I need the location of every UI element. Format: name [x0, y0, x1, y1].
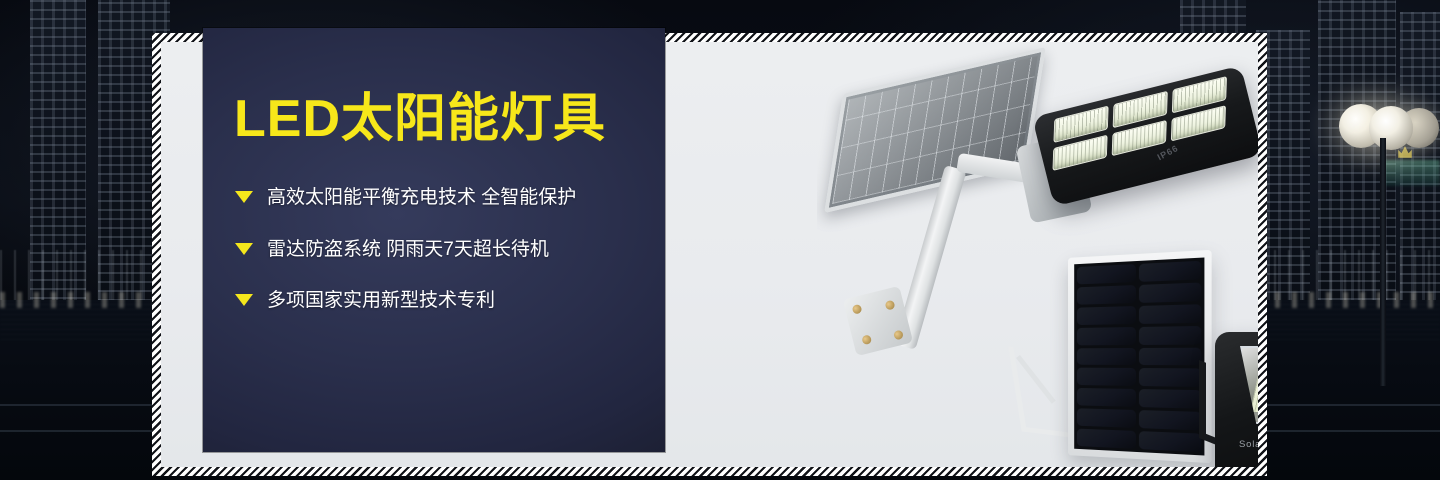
feature-item: 雷达防盗系统 阴雨天7天超长待机 [235, 237, 635, 263]
solar-panel-product [1062, 254, 1212, 459]
feature-text: 雷达防盗系统 阴雨天7天超长待机 [267, 237, 549, 263]
mount-bolt-icon [861, 334, 872, 345]
led-solar-lighting-banner: IP66 [0, 0, 1440, 480]
solar-cell [1138, 410, 1201, 430]
triangle-down-icon [235, 243, 253, 255]
street-light-solar-panel [824, 47, 1046, 213]
solar-cell [1138, 326, 1201, 345]
mount-bolt-icon [893, 330, 904, 341]
solar-flood-light-product: Solar light 100W IP67 [1215, 332, 1258, 467]
solar-cell [1138, 261, 1201, 282]
panel-cell-grid [1074, 257, 1204, 455]
panel-frame [1068, 250, 1212, 463]
mount-bolt-icon [852, 304, 863, 315]
solar-cell [1138, 347, 1201, 366]
flood-light-brand-label: Solar light [1239, 439, 1258, 450]
panel-cell-column [1077, 264, 1136, 449]
housing-ip-mark: IP66 [1156, 143, 1181, 162]
solar-cell [1077, 306, 1136, 325]
solar-cell [1138, 389, 1201, 409]
led-module-array [1052, 76, 1227, 171]
street-lamp-post [1327, 86, 1440, 386]
feature-item: 多项国家实用新型技术专利 [235, 288, 635, 314]
solar-cell [1077, 408, 1136, 428]
solar-cell [1138, 304, 1201, 324]
street-light-led-head: IP66 [1032, 65, 1258, 206]
solar-cell [1077, 327, 1136, 345]
flood-light-housing: Solar light 100W IP67 [1215, 332, 1258, 467]
solar-cell [1138, 431, 1201, 452]
solar-cell [1138, 368, 1201, 387]
feature-item: 高效太阳能平衡充电技术 全智能保护 [235, 185, 635, 211]
triangle-down-icon [235, 191, 253, 203]
solar-cell [1077, 388, 1136, 407]
flood-light-lens [1240, 346, 1258, 424]
panel-cell-column [1138, 261, 1201, 452]
mount-bolt-icon [885, 300, 896, 311]
headline-panel: LED太阳能灯具 高效太阳能平衡充电技术 全智能保护 雷达防盗系统 阴雨天7天超… [203, 28, 665, 452]
triangle-down-icon [235, 294, 253, 306]
solar-cell [1077, 285, 1136, 305]
feature-text: 多项国家实用新型技术专利 [267, 288, 495, 314]
feature-list: 高效太阳能平衡充电技术 全智能保护 雷达防盗系统 阴雨天7天超长待机 多项国家实… [235, 185, 635, 340]
lamp-globe [1369, 106, 1413, 150]
solar-cell [1077, 348, 1136, 366]
lamp-pole [1380, 138, 1386, 386]
product-showcase: IP66 [817, 42, 1258, 467]
page-title: LED太阳能灯具 [234, 76, 606, 151]
solar-cell [1138, 282, 1201, 302]
solar-cell [1077, 264, 1136, 284]
solar-cell [1077, 368, 1136, 386]
led-chip-array [1250, 358, 1258, 412]
solar-cell [1077, 429, 1136, 449]
feature-text: 高效太阳能平衡充电技术 全智能保护 [267, 185, 576, 211]
flood-light-labels: Solar light 100W IP67 [1239, 434, 1258, 454]
